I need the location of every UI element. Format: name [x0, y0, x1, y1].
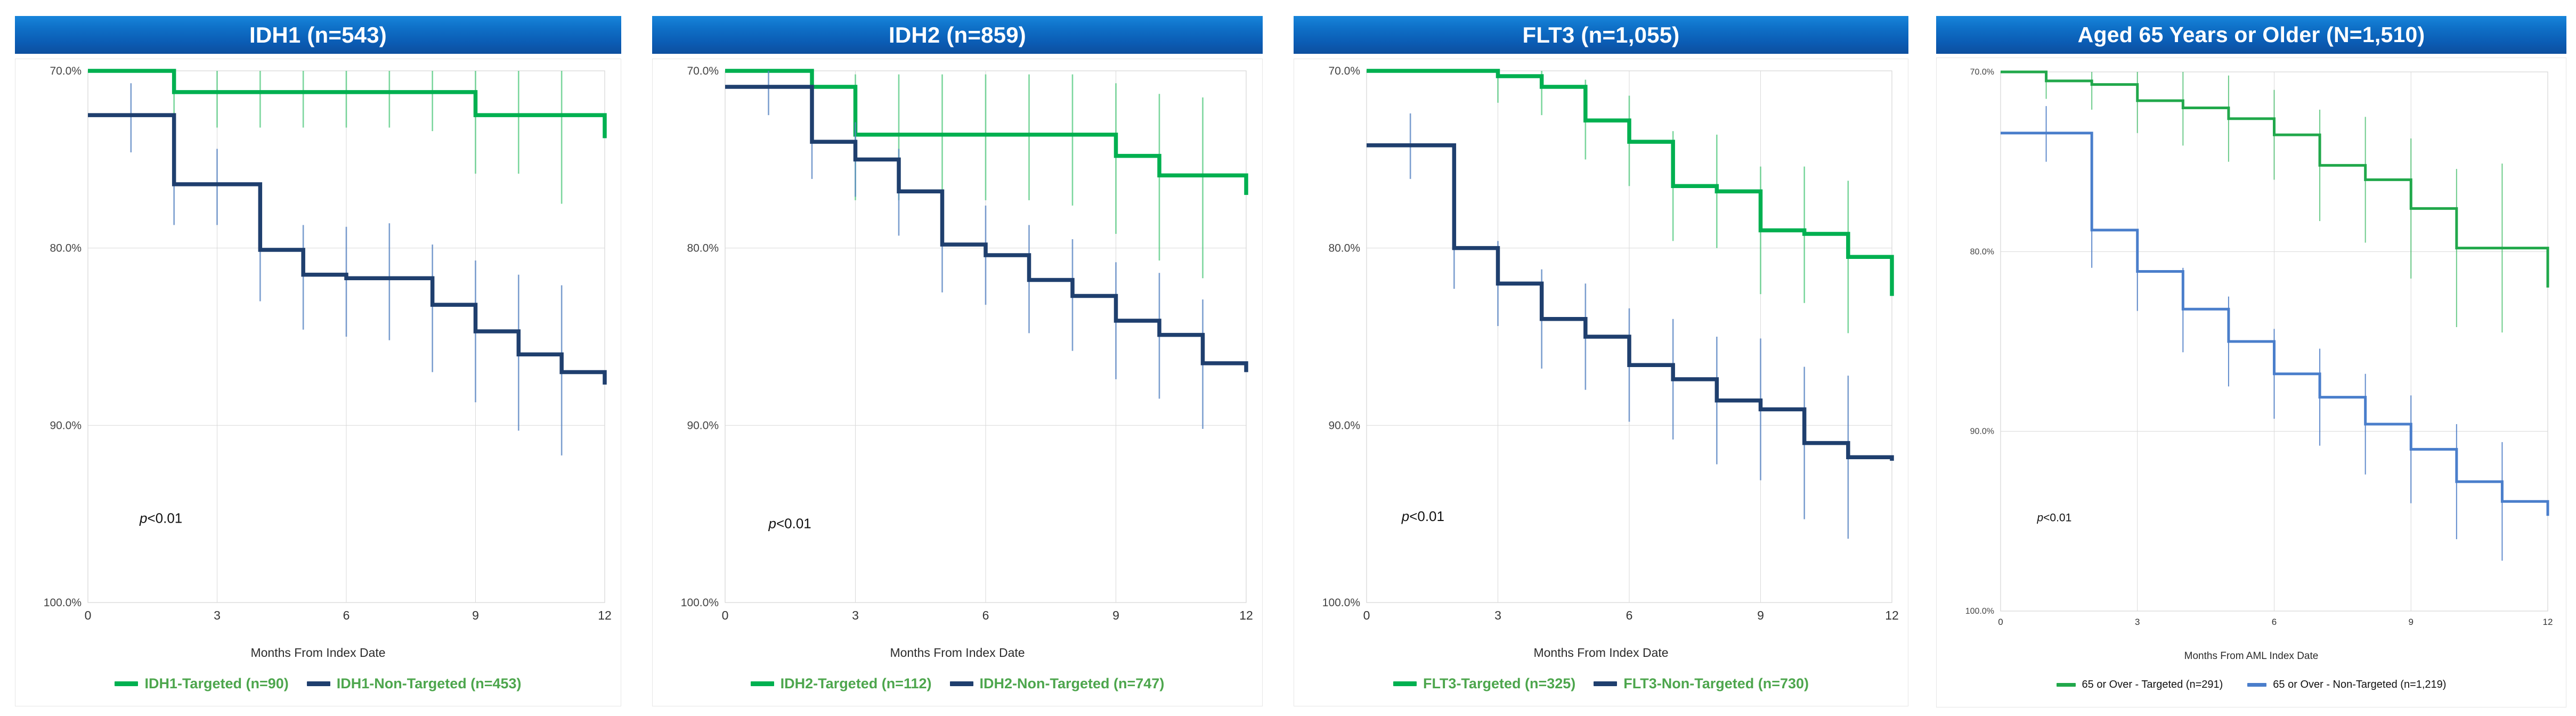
km-plot-svg: 100.0%90.0%80.0%70.0%036912p<0.01 [653, 59, 1262, 644]
legend: IDH1-Targeted (n=90) IDH1-Non-Targeted (… [15, 676, 621, 692]
km-curve-svg: 100.0%90.0%80.0%70.0%036912p<0.01 [15, 59, 621, 644]
km-plot-svg: 100.0%90.0%80.0%70.0%036912p<0.01 [15, 59, 621, 644]
legend: IDH2-Targeted (n=112) IDH2-Non-Targeted … [653, 676, 1262, 692]
chart-card-idh1: Cumulative Estimated Survival % 100.0%90… [15, 59, 621, 706]
x-axis-label: Months From AML Index Date [1937, 650, 2566, 662]
p-value-annotation: p<0.01 [139, 510, 182, 526]
legend-item-targeted[interactable]: FLT3-Targeted (n=325) [1393, 676, 1575, 692]
svg-text:6: 6 [1626, 608, 1633, 622]
chart-card-aged65: Cumulative Estimated Survival % 100.0%90… [1936, 58, 2566, 707]
svg-text:12: 12 [1885, 608, 1899, 622]
legend-label: FLT3-Targeted (n=325) [1423, 676, 1575, 692]
km-curve-svg: 100.0%90.0%80.0%70.0%036912p<0.01 [1294, 59, 1908, 644]
legend-label: IDH1-Non-Targeted (n=453) [337, 676, 522, 692]
panel-idh2: IDH2 (n=859) Cumulative Estimated Surviv… [637, 0, 1279, 716]
svg-text:12: 12 [1239, 608, 1253, 622]
legend: 65 or Over - Targeted (n=291) 65 or Over… [1937, 679, 2566, 691]
legend-label: IDH2-Targeted (n=112) [781, 676, 932, 692]
legend-item-non-targeted[interactable]: FLT3-Non-Targeted (n=730) [1594, 676, 1809, 692]
svg-text:12: 12 [598, 608, 612, 622]
svg-text:3: 3 [1494, 608, 1501, 622]
svg-text:80.0%: 80.0% [687, 242, 719, 255]
svg-text:70.0%: 70.0% [1970, 68, 1994, 77]
km-plot-svg: 100.0%90.0%80.0%70.0%036912p<0.01 [1937, 58, 2566, 648]
panel-idh1: IDH1 (n=543) Cumulative Estimated Surviv… [0, 0, 637, 716]
p-value-annotation: p<0.01 [1401, 508, 1444, 524]
legend-label: FLT3-Non-Targeted (n=730) [1623, 676, 1809, 692]
km-plot-svg: 100.0%90.0%80.0%70.0%036912p<0.01 [1294, 59, 1908, 644]
svg-text:70.0%: 70.0% [1328, 65, 1360, 77]
legend-line-icon [2247, 683, 2266, 687]
panel-aged65: Aged 65 Years or Older (N=1,510) Cumulat… [1924, 0, 2576, 716]
panel-title: FLT3 (n=1,055) [1523, 22, 1680, 48]
legend-label: 65 or Over - Non-Targeted (n=1,219) [2273, 679, 2446, 691]
legend-label: 65 or Over - Targeted (n=291) [2082, 679, 2223, 691]
plot-area: Cumulative Estimated Survival % 100.0%90… [15, 59, 621, 644]
svg-text:90.0%: 90.0% [50, 419, 82, 432]
plot-area: Cumulative Estimated Survival % 100.0%90… [1294, 59, 1908, 644]
legend-item-targeted[interactable]: 65 or Over - Targeted (n=291) [2057, 679, 2223, 691]
p-value-annotation: p<0.01 [2036, 511, 2071, 524]
survival-panels-board: IDH1 (n=543) Cumulative Estimated Surviv… [0, 0, 2576, 716]
svg-text:100.0%: 100.0% [1965, 607, 1994, 616]
svg-text:80.0%: 80.0% [1328, 242, 1360, 255]
panel-header-idh2: IDH2 (n=859) [652, 16, 1263, 54]
svg-text:9: 9 [472, 608, 479, 622]
legend-line-icon [1393, 681, 1417, 686]
panel-flt3: FLT3 (n=1,055) Cumulative Estimated Surv… [1279, 0, 1924, 716]
legend-label: IDH2-Non-Targeted (n=747) [980, 676, 1165, 692]
svg-text:100.0%: 100.0% [681, 597, 719, 609]
x-axis-label: Months From Index Date [1294, 646, 1908, 660]
svg-text:3: 3 [214, 608, 221, 622]
chart-card-flt3: Cumulative Estimated Survival % 100.0%90… [1294, 59, 1908, 706]
svg-text:12: 12 [2543, 617, 2553, 627]
legend-item-non-targeted[interactable]: IDH1-Non-Targeted (n=453) [307, 676, 522, 692]
svg-text:90.0%: 90.0% [1970, 427, 1994, 436]
svg-text:6: 6 [982, 608, 989, 622]
km-curve-svg: 100.0%90.0%80.0%70.0%036912p<0.01 [1937, 58, 2566, 648]
svg-text:3: 3 [2135, 617, 2140, 627]
plot-area: Cumulative Estimated Survival % 100.0%90… [653, 59, 1262, 644]
panel-title: IDH2 (n=859) [889, 22, 1026, 48]
panel-title: IDH1 (n=543) [249, 22, 387, 48]
legend-line-icon [950, 681, 973, 686]
plot-area: Cumulative Estimated Survival % 100.0%90… [1937, 58, 2566, 648]
svg-text:0: 0 [1998, 617, 2003, 627]
svg-text:9: 9 [2409, 617, 2414, 627]
svg-text:70.0%: 70.0% [687, 65, 719, 77]
legend: FLT3-Targeted (n=325) FLT3-Non-Targeted … [1294, 676, 1908, 692]
legend-item-non-targeted[interactable]: 65 or Over - Non-Targeted (n=1,219) [2247, 679, 2446, 691]
svg-text:9: 9 [1112, 608, 1119, 622]
svg-text:3: 3 [852, 608, 859, 622]
legend-line-icon [1594, 681, 1617, 686]
svg-text:100.0%: 100.0% [1322, 597, 1360, 609]
legend-item-targeted[interactable]: IDH1-Targeted (n=90) [115, 676, 288, 692]
panel-header-idh1: IDH1 (n=543) [15, 16, 621, 54]
legend-item-targeted[interactable]: IDH2-Targeted (n=112) [751, 676, 932, 692]
legend-item-non-targeted[interactable]: IDH2-Non-Targeted (n=747) [950, 676, 1165, 692]
svg-text:70.0%: 70.0% [50, 65, 82, 77]
legend-line-icon [307, 681, 330, 686]
legend-label: IDH1-Targeted (n=90) [144, 676, 288, 692]
km-curve-svg: 100.0%90.0%80.0%70.0%036912p<0.01 [653, 59, 1262, 644]
svg-text:80.0%: 80.0% [50, 242, 82, 255]
svg-text:0: 0 [85, 608, 92, 622]
svg-text:100.0%: 100.0% [44, 597, 82, 609]
svg-text:6: 6 [2272, 617, 2277, 627]
chart-card-idh2: Cumulative Estimated Survival % 100.0%90… [652, 59, 1263, 706]
svg-text:0: 0 [1363, 608, 1370, 622]
x-axis-label: Months From Index Date [15, 646, 621, 660]
svg-text:90.0%: 90.0% [687, 419, 719, 432]
svg-text:6: 6 [343, 608, 350, 622]
svg-text:80.0%: 80.0% [1970, 247, 1994, 256]
p-value-annotation: p<0.01 [768, 515, 811, 531]
svg-text:0: 0 [722, 608, 729, 622]
svg-text:9: 9 [1757, 608, 1764, 622]
svg-text:90.0%: 90.0% [1328, 419, 1360, 432]
panel-header-aged65: Aged 65 Years or Older (N=1,510) [1936, 16, 2566, 54]
panel-title: Aged 65 Years or Older (N=1,510) [2078, 22, 2425, 47]
legend-line-icon [115, 681, 138, 686]
legend-line-icon [2057, 683, 2076, 687]
panel-header-flt3: FLT3 (n=1,055) [1294, 16, 1908, 54]
legend-line-icon [751, 681, 774, 686]
x-axis-label: Months From Index Date [653, 646, 1262, 660]
